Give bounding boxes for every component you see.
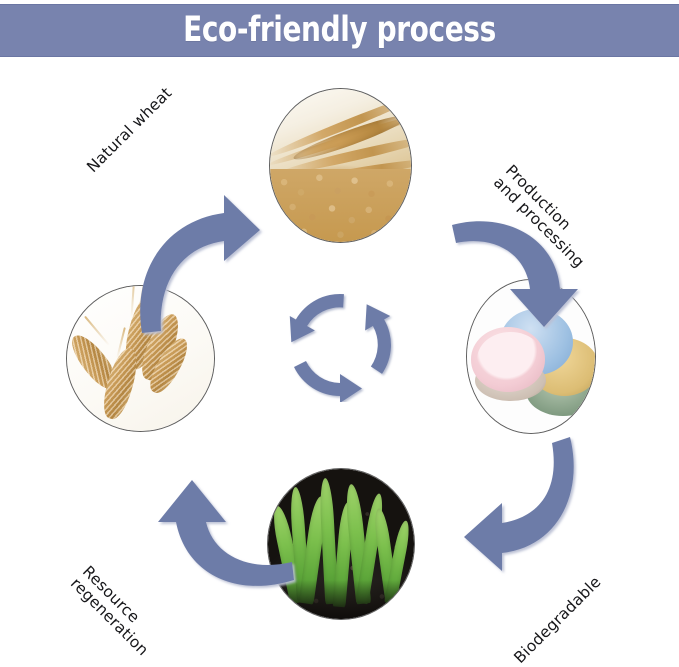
node-image-wheat-stalks <box>66 285 215 432</box>
node-image-plates <box>466 279 596 434</box>
node-image-wheat-grain <box>269 88 412 243</box>
node-image-plants <box>267 468 415 620</box>
plants-photo <box>268 469 414 619</box>
wheat-stalks-photo <box>67 286 214 431</box>
label-production-and-processing: Production and processing <box>490 162 599 271</box>
recycle-arrows-icon <box>283 288 397 402</box>
label-natural-wheat-line-1: Natural wheat <box>84 85 175 176</box>
label-natural-wheat: Natural wheat <box>84 85 175 176</box>
page-title: Eco-friendly process <box>183 13 496 48</box>
label-biodegradable: Biodegradable <box>511 573 604 666</box>
eco-friendly-process-diagram: Natural wheat Production and processing … <box>0 57 679 624</box>
label-resource-regeneration: Resource regeneration <box>67 563 163 659</box>
plates-photo <box>467 280 595 433</box>
header-banner: Eco-friendly process <box>0 4 679 57</box>
label-biodegradable-line-1: Biodegradable <box>511 573 604 666</box>
curved-arrow-biodegradable <box>448 435 618 595</box>
wheat-grain-photo <box>270 89 411 242</box>
